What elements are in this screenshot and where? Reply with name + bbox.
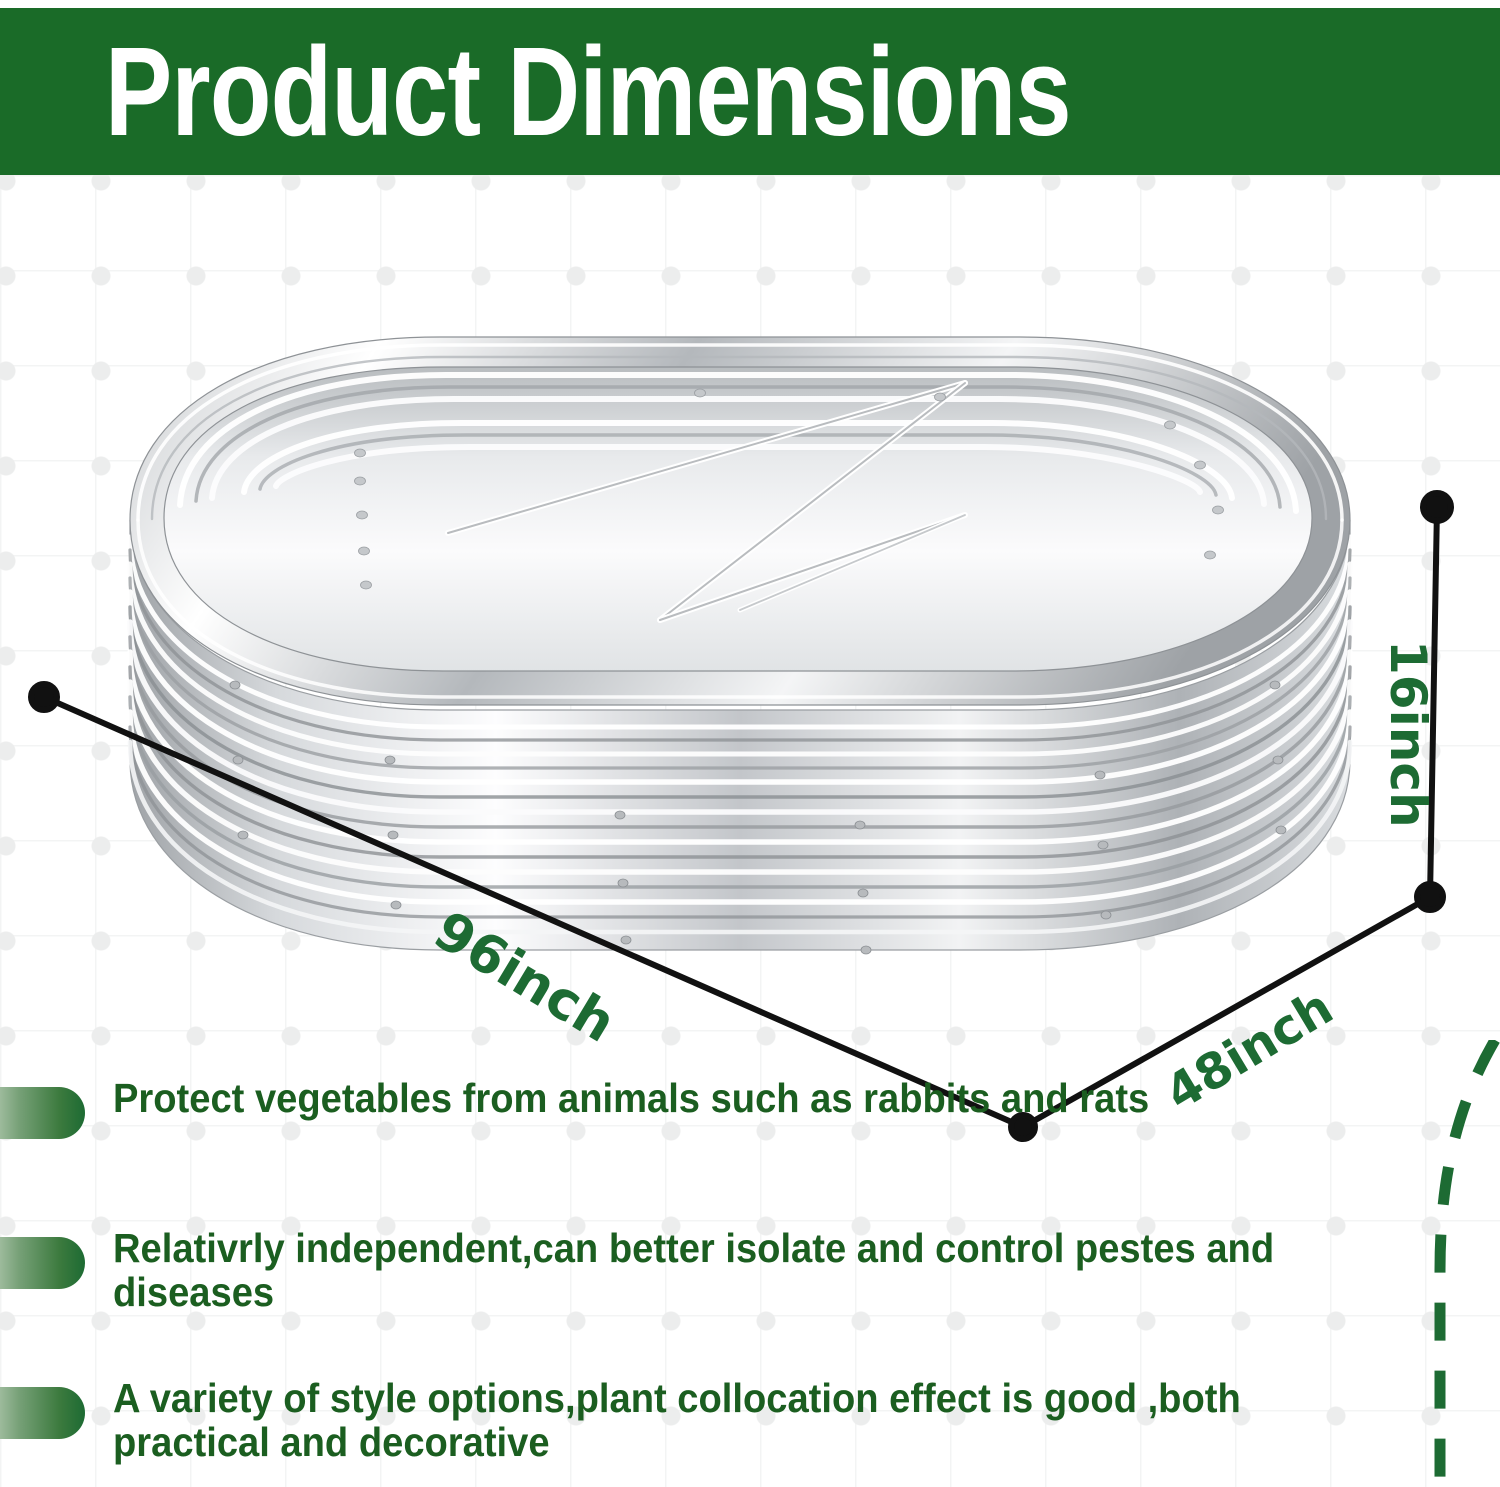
- product-illustration: [60, 215, 1420, 1075]
- feature-text: A variety of style options,plant colloca…: [113, 1377, 1350, 1465]
- list-item: Protect vegetables from animals such as …: [0, 1070, 1500, 1220]
- header-banner: Product Dimensions: [0, 8, 1500, 175]
- height-dimension-line: [1430, 507, 1437, 897]
- bullet-marker-icon: [0, 1387, 85, 1439]
- feature-list: Protect vegetables from animals such as …: [0, 1070, 1500, 1487]
- length-line-endpoint: [31, 684, 57, 710]
- bullet-marker-icon: [0, 1237, 85, 1289]
- bed-inner-wall: [160, 363, 1315, 677]
- product-dimensions-infographic: Product Dimensions: [0, 0, 1500, 1487]
- list-item: Relativrly independent,can better isolat…: [0, 1220, 1500, 1370]
- page-title: Product Dimensions: [105, 29, 1071, 155]
- feature-text: Protect vegetables from animals such as …: [113, 1077, 1350, 1121]
- list-item: A variety of style options,plant colloca…: [0, 1370, 1500, 1487]
- bullet-marker-icon: [0, 1087, 85, 1139]
- feature-text: Relativrly independent,can better isolat…: [113, 1227, 1350, 1315]
- height-line-top-endpoint: [1423, 493, 1451, 521]
- height-line-bottom-endpoint: [1417, 884, 1443, 910]
